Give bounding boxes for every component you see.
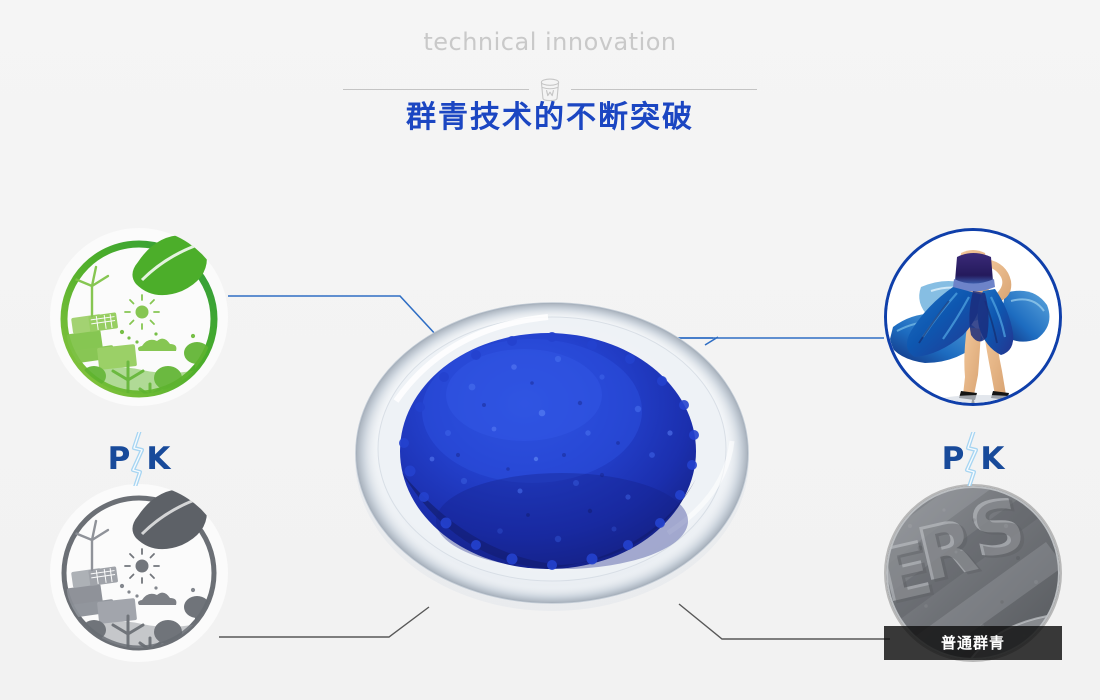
ultramarine-pigment-dish — [352, 283, 752, 613]
blue-dress-model-photo — [887, 231, 1059, 403]
pk-badge-right: PK — [918, 432, 1028, 486]
comparison-circle-eco-gray[interactable] — [50, 484, 228, 662]
comparison-circle-eco-color[interactable] — [50, 228, 228, 406]
pk-badge-left: PK — [84, 432, 194, 486]
eco-globe-leaf-icon — [50, 228, 228, 406]
divider-rule-right — [571, 89, 757, 90]
header-eyebrow: technical innovation — [0, 28, 1100, 56]
pk-label: PK — [84, 432, 194, 486]
eco-globe-leaf-gray-icon — [50, 484, 228, 662]
pk-label: PK — [918, 432, 1028, 486]
comparison-circle-fashion[interactable] — [884, 228, 1062, 406]
divider-rule-left — [343, 89, 529, 90]
fabric-caption-label: 普通群青 — [884, 626, 1062, 660]
page-title: 群青技术的不断突破 — [0, 92, 1100, 136]
pigment-dish — [352, 283, 752, 613]
infographic-canvas: technical innovation 群青技术的不断突破 — [0, 0, 1100, 700]
